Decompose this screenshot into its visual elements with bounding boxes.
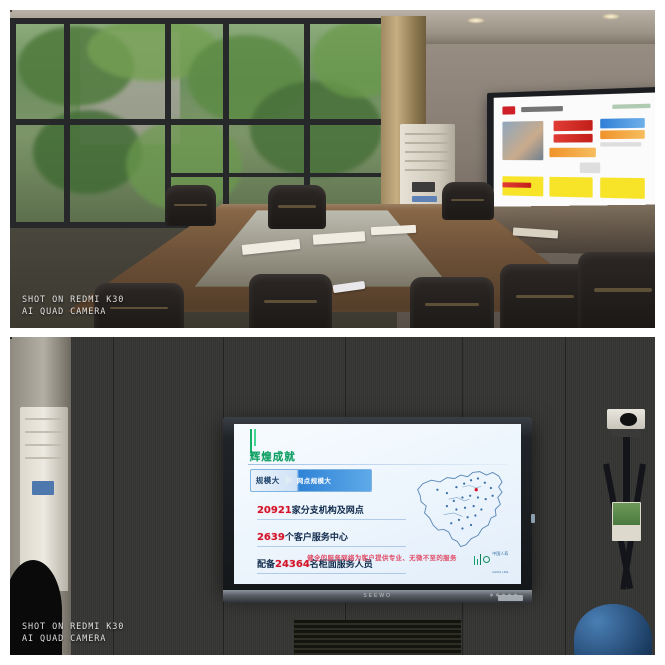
display-brand-label: SEEWO (363, 593, 392, 599)
logo-text-line-1: 中国人寿 (492, 551, 508, 556)
bullet-text: 家分支机构及网点 (292, 506, 364, 516)
bullet-number: 2639 (257, 532, 285, 543)
slide-tag-value: 网点规模大 (297, 475, 332, 485)
hanging-plant-tag (612, 502, 640, 540)
logo-text-line-2: CHINA LIFE (492, 571, 508, 574)
floor-vent-grille (294, 620, 462, 655)
watermark-line-1: SHOT ON REDMI K30 (22, 621, 124, 633)
watermark-line-2: AI QUAD CAMERA (22, 633, 124, 645)
watermark-line-2: AI QUAD CAMERA (22, 306, 124, 318)
ac-label-sticker (32, 481, 54, 496)
conference-room-audience-photo: SHOT ON REDMI K30 AI QUAD CAMERA (10, 10, 655, 328)
office-chair (268, 185, 326, 230)
logo-circle-icon (483, 556, 490, 563)
slide-bullet: 20921家分支机构及网点 (257, 498, 406, 520)
logo-bars-icon (474, 554, 482, 565)
wall-mounted-display[interactable] (487, 86, 655, 220)
display-screen (494, 92, 655, 214)
display-side-button[interactable] (531, 514, 535, 523)
display-bottom-bezel: SEEWO (223, 590, 533, 603)
ac-label-sticker (412, 196, 437, 203)
office-chair (165, 185, 217, 226)
display-port-panel (498, 595, 523, 601)
interactive-flat-panel[interactable]: 辉煌成就 规模大 网点规模大 20921家分支机构及网点 2639个客户服务中心… (223, 417, 533, 592)
slide-bullet: 2639个客户服务中心 (257, 525, 406, 547)
downlight-icon (468, 18, 484, 23)
slide-title: 辉煌成就 (250, 449, 296, 464)
logo-text: 中国人寿 CHINA LIFE (492, 542, 508, 578)
watermark-line-1: SHOT ON REDMI K30 (22, 294, 124, 306)
highlight-pin (475, 488, 478, 491)
ac-control-panel (412, 182, 435, 192)
presentation-slide: 辉煌成就 规模大 网点规模大 20921家分支机构及网点 2639个客户服务中心… (234, 424, 521, 584)
chevron-right-icon (285, 474, 293, 486)
bullet-text: 个客户服务中心 (285, 533, 348, 543)
office-chair (249, 274, 333, 328)
photo-collage: SHOT ON REDMI K30 AI QUAD CAMERA 辉煌成 (0, 0, 665, 665)
office-chair (578, 252, 655, 328)
slide-bullet-list: 20921家分支机构及网点 2639个客户服务中心 配备24364名柜面服务人员 (257, 498, 406, 579)
bullet-number: 20921 (257, 505, 292, 516)
china-life-logo: 中国人寿 CHINA LIFE (474, 542, 509, 578)
office-chair (410, 277, 494, 328)
presenter-with-slide-photo: 辉煌成就 规模大 网点规模大 20921家分支机构及网点 2639个客户服务中心… (10, 337, 655, 655)
slide-highlight-tag: 规模大 网点规模大 (250, 469, 373, 492)
office-chair (442, 182, 494, 220)
camera-watermark: SHOT ON REDMI K30 AI QUAD CAMERA (22, 294, 124, 318)
camera-watermark: SHOT ON REDMI K30 AI QUAD CAMERA (22, 621, 124, 645)
slide-tag-key: 规模大 (251, 475, 285, 486)
office-chair (500, 264, 590, 328)
